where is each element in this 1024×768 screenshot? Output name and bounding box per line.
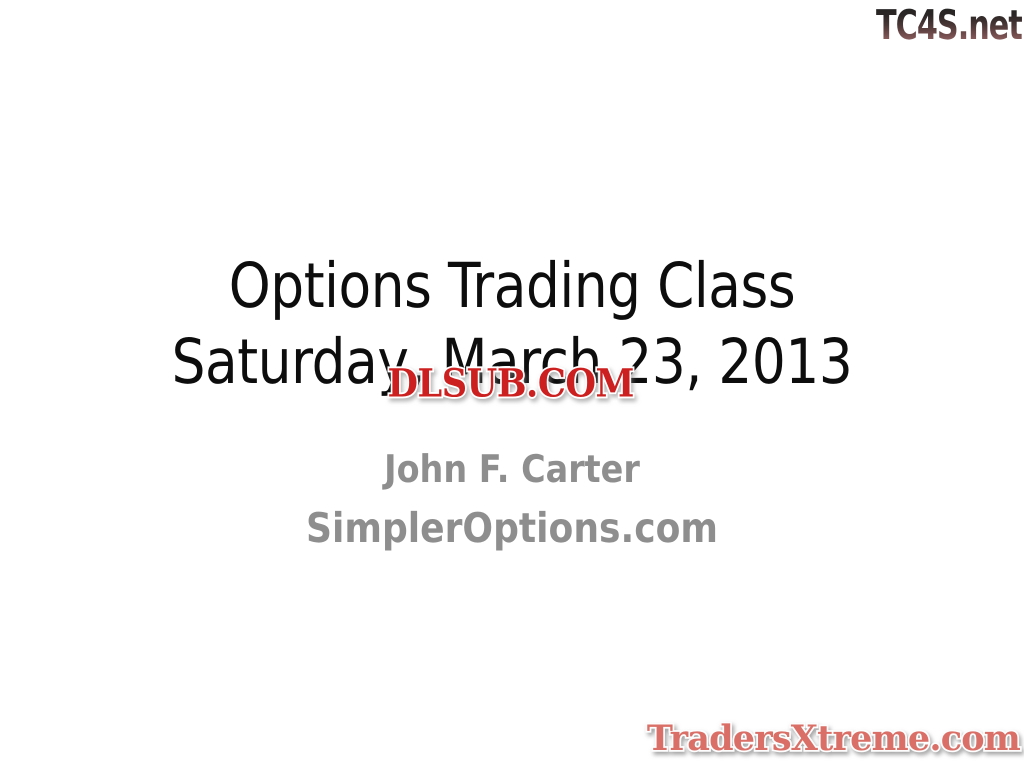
presenter-website: SimplerOptions.com — [61, 495, 962, 561]
tc4s-brand-logo: TC4S.net — [876, 2, 1022, 48]
slide-subtitle: John F. Carter SimplerOptions.com — [0, 443, 1024, 561]
presentation-slide: TC4S.net Options Trading Class Saturday,… — [0, 0, 1024, 768]
dlsub-watermark-text: DLSUB.COM — [388, 364, 634, 403]
slide-title-line-1: Options Trading Class — [72, 248, 953, 324]
dlsub-watermark: DLSUB.COM — [364, 362, 658, 404]
tradersxtreme-logo-text: TradersXtreme.com — [647, 718, 1020, 759]
tradersxtreme-logo: TradersXtreme.com — [647, 718, 1020, 760]
presenter-name: John F. Carter — [61, 443, 962, 495]
